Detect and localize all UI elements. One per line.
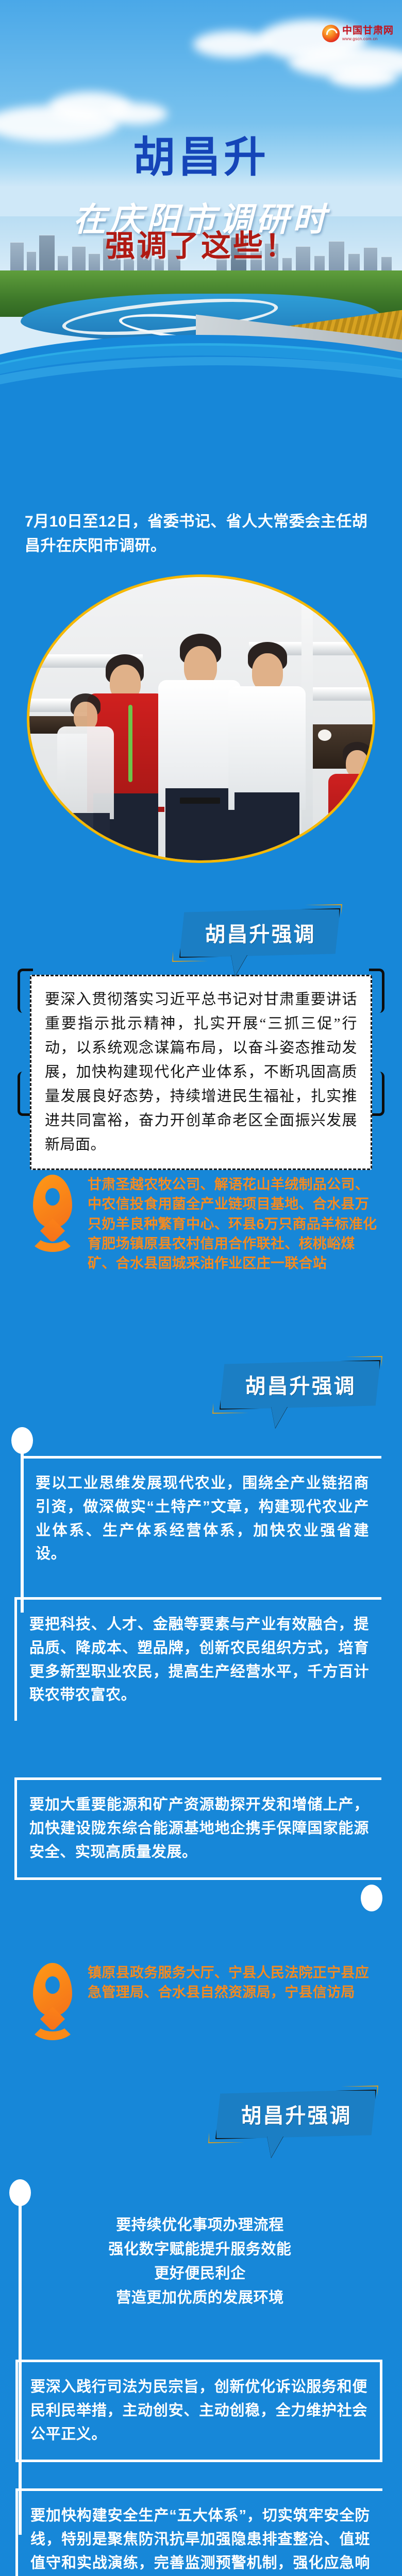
emphasize-badge-label: 胡昌升强调 (186, 918, 335, 947)
emphasize-badge-1: 胡昌升强调 (170, 904, 345, 965)
handwriting-quote-box: 要深入贯彻落实习近平总书记对甘肃重要讲话重要指示批示精神，扎实开展“三抓三促”行… (30, 975, 372, 1170)
location-text-1: 甘肃圣越农牧公司、解语花山羊绒制品公司、中农信投食用菌全产业链项目基地、合水县万… (88, 1175, 379, 1274)
statement-line-4-1: 要持续优化事项办理流程 (31, 2213, 369, 2238)
location-block-2: 镇原县政务服务大厅、宁县人民法院正宁县应急管理局、合水县自然资源局，宁县信访局 (29, 1963, 379, 2040)
statement-line-4-3: 更好便民利企 (31, 2262, 369, 2286)
location-text-2: 镇原县政务服务大厅、宁县人民法院正宁县应急管理局、合水县自然资源局，宁县信访局 (88, 1963, 379, 2040)
location-block-1: 甘肃圣越农牧公司、解语花山羊绒制品公司、中农信投食用菌全产业链项目基地、合水县万… (29, 1175, 379, 1274)
statement-text-3: 要加大重要能源和矿产资源勘探开发和增储上产，加快建设陇东综合能源基地地企携手保障… (29, 1793, 369, 1864)
statement-card-1: 要以工业思维发展现代农业，围绕全产业链招商引资，做深做实“土特产”文章，构建现代… (21, 1456, 381, 1580)
brand-url: www.gscn.com.cn (342, 37, 394, 41)
leader-inspection-photo (27, 574, 375, 863)
hero-banner: 中国甘肃网 www.gscn.com.cn 胡昌升 在庆阳市调研时 强调了这些！ (0, 0, 402, 361)
site-logo[interactable]: 中国甘肃网 www.gscn.com.cn (322, 25, 394, 42)
statement-text-5: 要深入践行司法为民宗旨，创新优化诉讼服务和便民利民举措，主动创安、主动创稳，全力… (30, 2376, 367, 2446)
statement-card-6: 要加快构建安全生产“五大体系”，切实筑牢安全防线，特别是聚焦防汛抗旱加强隐患排查… (15, 2488, 382, 2576)
emphasize-badge-label: 胡昌升强调 (222, 2099, 371, 2129)
statement-text-6: 要加快构建安全生产“五大体系”，切实筑牢安全防线，特别是聚焦防汛抗旱加强隐患排查… (30, 2504, 370, 2576)
cloud-decoration (330, 67, 397, 88)
statement-card-2: 要把科技、人才、金融等要素与产业有效融合，提品质、降成本、塑品牌，创新农民组织方… (14, 1597, 381, 1721)
intro-paragraph: 7月10日至12日，省委书记、省人大常委会主任胡昌升在庆阳市调研。 (25, 510, 380, 558)
gscn-flame-icon (322, 25, 340, 42)
quote-text: 要深入贯彻落实习近平总书记对甘肃重要讲话重要指示批示精神，扎实开展“三抓三促”行… (45, 988, 357, 1157)
hero-title-main: 胡昌升 (0, 123, 402, 184)
statement-text-2: 要把科技、人才、金融等要素与产业有效融合，提品质、降成本、塑品牌，创新农民组织方… (29, 1613, 369, 1707)
statement-card-5: 要深入践行司法为民宗旨，创新优化诉讼服务和便民利民举措，主动创安、主动创稳，全力… (15, 2360, 382, 2462)
infographic-poster: 中国甘肃网 www.gscn.com.cn 胡昌升 在庆阳市调研时 强调了这些！… (0, 0, 402, 2576)
statement-line-4-2: 强化数字赋能提升服务效能 (31, 2238, 369, 2262)
emphasize-badge-2: 胡昌升强调 (210, 1356, 386, 1417)
statement-card-4: 要持续优化事项办理流程 强化数字赋能提升服务效能 更好便民利企 营造更加优质的发… (19, 2200, 381, 2324)
statement-card-3: 要加大重要能源和矿产资源勘探开发和增储上产，加快建设陇东综合能源基地地企携手保障… (14, 1777, 381, 1880)
hero-title-accent: 强调了这些！ (0, 222, 402, 265)
emphasize-badge-label: 胡昌升强调 (226, 1369, 375, 1399)
pin-line-end-knob (361, 1885, 384, 1913)
statement-text-1: 要以工业思维发展现代农业，围绕全产业链招商引资，做深做实“土特产”文章，构建现代… (36, 1472, 369, 1566)
map-pin-icon (29, 1963, 76, 2040)
emphasize-badge-3: 胡昌升强调 (206, 2086, 381, 2146)
cloud-decoration (106, 103, 167, 125)
statement-line-4-4: 营造更加优质的发展环境 (31, 2286, 369, 2310)
brand-name: 中国甘肃网 (342, 26, 394, 36)
map-pin-icon (29, 1175, 76, 1252)
